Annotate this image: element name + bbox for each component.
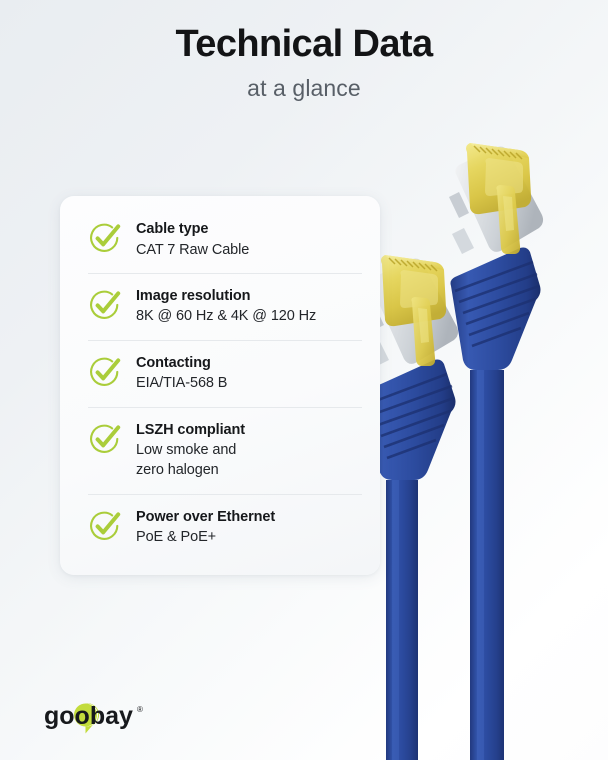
check-circle-icon	[88, 355, 122, 389]
spec-label: Image resolution	[136, 287, 316, 307]
spec-row-cable-type: Cable type CAT 7 Raw Cable	[60, 206, 380, 273]
spec-value: EIA/TIA-568 B	[136, 373, 227, 393]
spec-label: LSZH compliant	[136, 421, 245, 441]
spec-row-lszh-compliant: LSZH compliant Low smoke and zero haloge…	[60, 407, 380, 494]
spec-label: Power over Ethernet	[136, 508, 275, 528]
header: Technical Data at a glance	[0, 0, 608, 101]
spec-row-contacting: Contacting EIA/TIA-568 B	[60, 340, 380, 407]
spec-text: Power over Ethernet PoE & PoE+	[136, 507, 275, 548]
technical-data-infographic: Technical Data at a glance	[0, 0, 608, 760]
check-circle-icon	[88, 422, 122, 456]
page-title: Technical Data	[0, 24, 608, 66]
check-circle-icon	[88, 221, 122, 255]
spec-row-image-resolution: Image resolution 8K @ 60 Hz & 4K @ 120 H…	[60, 273, 380, 340]
cable-assembly-back	[449, 143, 543, 760]
spec-row-power-over-ethernet: Power over Ethernet PoE & PoE+	[60, 494, 380, 561]
spec-text: Image resolution 8K @ 60 Hz & 4K @ 120 H…	[136, 286, 316, 327]
spec-label: Cable type	[136, 220, 249, 240]
check-circle-icon	[88, 509, 122, 543]
check-circle-icon	[88, 288, 122, 322]
spec-value: 8K @ 60 Hz & 4K @ 120 Hz	[136, 306, 316, 326]
spec-value: Low smoke and zero halogen	[136, 440, 245, 481]
specifications-card: Cable type CAT 7 Raw Cable Image resolut…	[60, 196, 380, 575]
logo-trademark: ®	[137, 705, 143, 714]
logo-text: goobay	[44, 702, 133, 730]
spec-label: Contacting	[136, 354, 227, 374]
spec-text: LSZH compliant Low smoke and zero haloge…	[136, 420, 245, 481]
spec-value: PoE & PoE+	[136, 527, 275, 547]
spec-text: Contacting EIA/TIA-568 B	[136, 353, 227, 394]
page-subtitle: at a glance	[0, 76, 608, 101]
goobay-logo: goobay ®	[44, 700, 156, 734]
spec-value: CAT 7 Raw Cable	[136, 240, 249, 260]
spec-text: Cable type CAT 7 Raw Cable	[136, 219, 249, 260]
